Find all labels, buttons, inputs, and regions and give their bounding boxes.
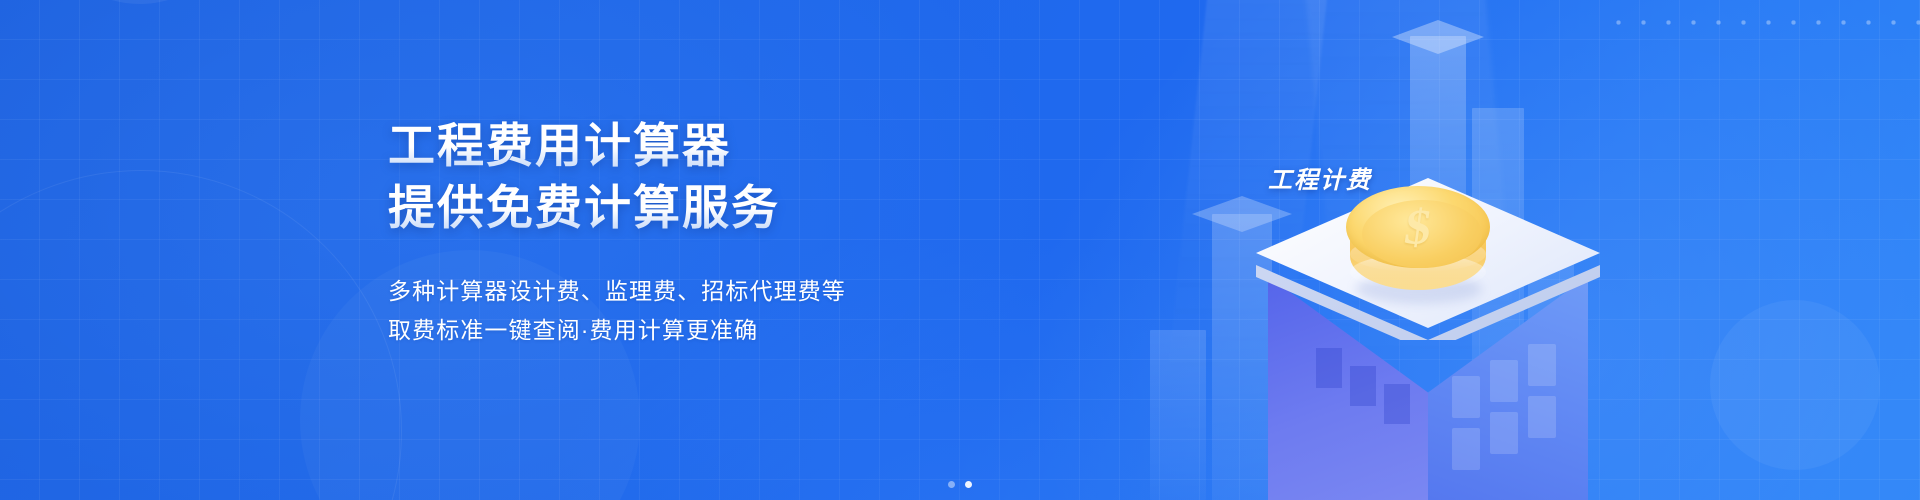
pagination-dot-2[interactable]: [965, 481, 972, 488]
coin-top-face: $: [1346, 186, 1490, 268]
building-window: [1528, 396, 1556, 438]
decorative-dot-matrix: [1600, 4, 1920, 44]
banner-subtitle-line-1: 多种计算器设计费、监理费、招标代理费等: [388, 272, 1008, 311]
banner-text-block: 工程费用计算器 提供免费计算服务 多种计算器设计费、监理费、招标代理费等 取费标…: [388, 118, 1008, 350]
promo-banner: 工程费用计算器 提供免费计算服务 多种计算器设计费、监理费、招标代理费等 取费标…: [0, 0, 1920, 500]
banner-subtitle-line-2: 取费标准一键查阅·费用计算更准确: [388, 311, 1008, 350]
building-window: [1452, 428, 1480, 470]
building-window: [1316, 348, 1342, 388]
banner-subtitle: 多种计算器设计费、监理费、招标代理费等 取费标准一键查阅·费用计算更准确: [388, 272, 1008, 350]
skyline-bar-far-left: [1150, 330, 1206, 500]
banner-illustration: $ 工程计费: [1120, 0, 1590, 500]
banner-title-line-1: 工程费用计算器: [388, 118, 1008, 174]
carousel-pagination[interactable]: [948, 481, 972, 488]
building-window: [1528, 344, 1556, 386]
gold-coin-stack-icon: $: [1342, 178, 1494, 308]
building-window: [1452, 376, 1480, 418]
dollar-sign-icon: $: [1340, 188, 1495, 267]
building-window: [1490, 412, 1518, 454]
building-window: [1384, 384, 1410, 424]
illustration-badge-label: 工程计费: [1268, 160, 1372, 195]
pagination-dot-1[interactable]: [948, 481, 955, 488]
building-window: [1490, 360, 1518, 402]
building-window: [1350, 366, 1376, 406]
skyline-bar-tall-cap: [1392, 20, 1484, 54]
banner-title-line-2: 提供免费计算服务: [388, 180, 1008, 236]
